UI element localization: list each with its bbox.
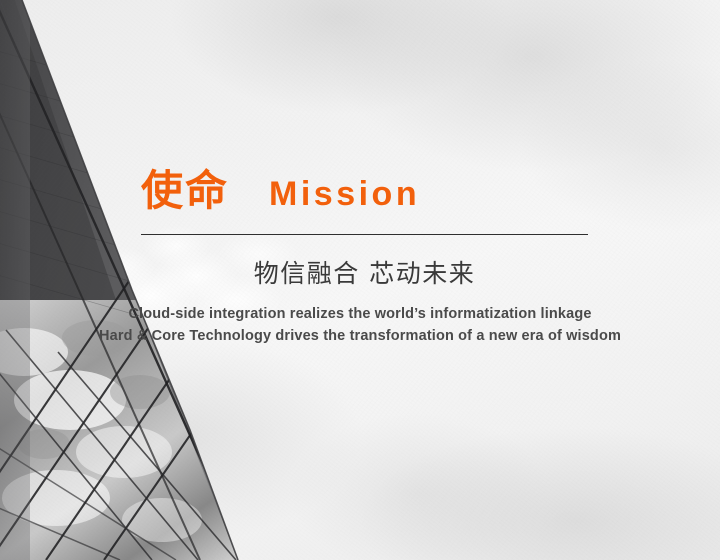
tagline-line-1: Cloud-side integration realizes the worl… bbox=[60, 303, 660, 325]
headline-english: Mission bbox=[269, 177, 420, 211]
banner-content: 使命 Mission 物信融合 芯动未来 Cloud-side integrat… bbox=[0, 0, 720, 560]
headline: 使命 Mission bbox=[141, 170, 588, 212]
headline-divider bbox=[141, 234, 588, 235]
tagline-line-2: Hard & Core Technology drives the transf… bbox=[60, 325, 660, 347]
tagline: Cloud-side integration realizes the worl… bbox=[60, 303, 660, 347]
subtitle-chinese: 物信融合 芯动未来 bbox=[141, 258, 588, 289]
mission-banner: 使命 Mission 物信融合 芯动未来 Cloud-side integrat… bbox=[0, 0, 720, 560]
headline-chinese: 使命 bbox=[141, 170, 229, 212]
